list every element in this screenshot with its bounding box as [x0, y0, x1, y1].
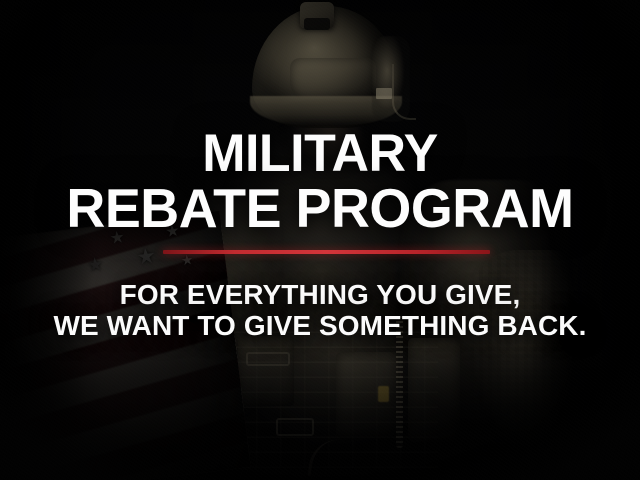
- subheadline-line-1: FOR EVERYTHING YOU GIVE,: [0, 281, 640, 309]
- military-rebate-poster: ★ ★ ★ ★ ★ MILITARY REBATE PROGRAM FOR EV…: [0, 0, 640, 480]
- headline-line-1: MILITARY: [6, 128, 633, 180]
- text-overlay: MILITARY REBATE PROGRAM FOR EVERYTHING Y…: [0, 0, 640, 480]
- red-divider-rule: [163, 250, 490, 254]
- subheadline-line-2: WE WANT TO GIVE SOMETHING BACK.: [0, 312, 640, 340]
- headline-line-2: REBATE PROGRAM: [6, 182, 633, 236]
